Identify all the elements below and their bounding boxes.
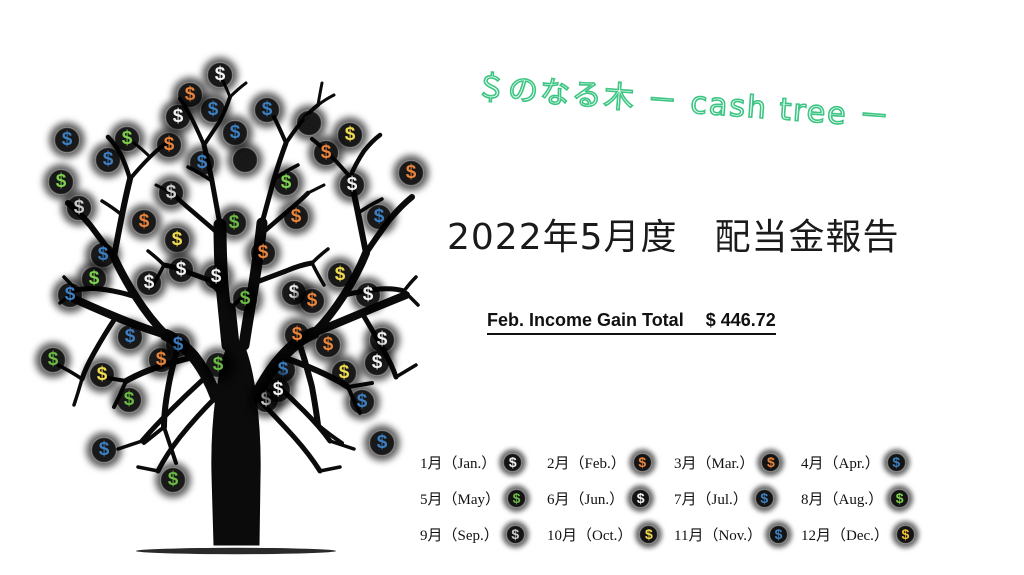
legend-row: 9月（Sep.）$10月（Oct.）$11月（Nov.）$12月（Dec.）$ bbox=[420, 516, 930, 552]
tree-coin: $ bbox=[366, 204, 392, 230]
tree-coin: $ bbox=[355, 282, 381, 308]
legend-row: 1月（Jan.）$2月（Feb.）$3月（Mar.）$4月（Apr.）$ bbox=[420, 444, 930, 480]
legend-month-label: 8月（Aug.） bbox=[801, 488, 883, 509]
tree-coin: $ bbox=[265, 377, 291, 403]
tree-coin: $ bbox=[369, 430, 395, 456]
slide-canvas: $$$$$$$$$$$$$$$$$$$$$$$$$$$$$$$$$$$$$$$$… bbox=[0, 0, 1024, 575]
tree-coin: $ bbox=[327, 262, 353, 288]
legend-row: 5月（May）$6月（Jun.）$7月（Jul.）$8月（Aug.）$ bbox=[420, 480, 930, 516]
legend-coin-icon: $ bbox=[631, 489, 650, 508]
tree-coin: $ bbox=[117, 324, 143, 350]
legend-coin-icon: $ bbox=[503, 453, 522, 472]
tree-coin: $ bbox=[89, 362, 115, 388]
page-title: ＄のなる木 － cash tree － bbox=[475, 62, 893, 136]
tree-coin: $ bbox=[164, 227, 190, 253]
legend-month-label: 10月（Oct.） bbox=[547, 524, 632, 545]
tree-coin: $ bbox=[250, 240, 276, 266]
tree-coin: $ bbox=[156, 132, 182, 158]
legend-month-item: 11月（Nov.）$ bbox=[674, 524, 801, 545]
legend-month-item: 8月（Aug.）$ bbox=[801, 488, 928, 509]
tree-coin: $ bbox=[283, 204, 309, 230]
tree-coin: $ bbox=[148, 347, 174, 373]
legend-month-item: 12月（Dec.）$ bbox=[801, 524, 928, 545]
tree-coin: $ bbox=[136, 270, 162, 296]
legend-month-label: 7月（Jul.） bbox=[674, 488, 748, 509]
legend-month-label: 2月（Feb.） bbox=[547, 452, 626, 473]
tree-coin: $ bbox=[116, 387, 142, 413]
tree-coin: $ bbox=[369, 327, 395, 353]
legend-coin-icon: $ bbox=[769, 525, 788, 544]
tree-coin: $ bbox=[337, 122, 363, 148]
tree-coin: $ bbox=[299, 288, 325, 314]
tree-coin: $ bbox=[349, 389, 375, 415]
legend-month-label: 6月（Jun.） bbox=[547, 488, 624, 509]
tree-coin: $ bbox=[205, 352, 231, 378]
legend-coin-icon: $ bbox=[639, 525, 658, 544]
cash-tree-illustration: $$$$$$$$$$$$$$$$$$$$$$$$$$$$$$$$$$$$$$$$… bbox=[30, 45, 440, 565]
tree-coin: $ bbox=[158, 180, 184, 206]
tree-coin: $ bbox=[221, 210, 247, 236]
legend-month-item: 9月（Sep.）$ bbox=[420, 524, 547, 545]
tree-coin: $ bbox=[315, 332, 341, 358]
month-legend: 1月（Jan.）$2月（Feb.）$3月（Mar.）$4月（Apr.）$5月（M… bbox=[420, 444, 930, 552]
tree-coin: $ bbox=[203, 264, 229, 290]
tree-coin: $ bbox=[114, 126, 140, 152]
legend-coin-icon: $ bbox=[896, 525, 915, 544]
report-heading: 2022年5月度 配当金報告 bbox=[447, 208, 900, 260]
tree-coin-layer: $$$$$$$$$$$$$$$$$$$$$$$$$$$$$$$$$$$$$$$$… bbox=[30, 45, 440, 565]
tree-coin: $ bbox=[95, 147, 121, 173]
tree-coin: $ bbox=[207, 62, 233, 88]
tree-coin: $ bbox=[331, 360, 357, 386]
tree-coin: $ bbox=[54, 127, 80, 153]
legend-coin-icon: $ bbox=[755, 489, 774, 508]
legend-month-label: 5月（May） bbox=[420, 488, 500, 509]
legend-month-label: 3月（Mar.） bbox=[674, 452, 754, 473]
legend-month-item: 3月（Mar.）$ bbox=[674, 452, 801, 473]
tree-coin: $ bbox=[398, 160, 424, 186]
tree-coin: $ bbox=[131, 209, 157, 235]
tree-coin: $ bbox=[364, 350, 390, 376]
tree-coin: $ bbox=[160, 467, 186, 493]
tree-coin: $ bbox=[66, 195, 92, 221]
tree-coin: $ bbox=[232, 147, 258, 173]
tree-coin: $ bbox=[48, 169, 74, 195]
legend-month-label: 1月（Jan.） bbox=[420, 452, 496, 473]
tree-coin: $ bbox=[91, 437, 117, 463]
tree-coin: $ bbox=[168, 257, 194, 283]
tree-coin: $ bbox=[200, 97, 226, 123]
tree-coin: $ bbox=[232, 286, 258, 312]
legend-month-item: 5月（May）$ bbox=[420, 488, 547, 509]
tree-coin: $ bbox=[339, 172, 365, 198]
legend-month-item: 7月（Jul.）$ bbox=[674, 488, 801, 509]
legend-month-item: 2月（Feb.）$ bbox=[547, 452, 674, 473]
tree-coin: $ bbox=[296, 110, 322, 136]
legend-coin-icon: $ bbox=[761, 453, 780, 472]
tree-coin: $ bbox=[284, 322, 310, 348]
legend-month-item: 6月（Jun.）$ bbox=[547, 488, 674, 509]
legend-month-label: 12月（Dec.） bbox=[801, 524, 889, 545]
legend-month-label: 4月（Apr.） bbox=[801, 452, 880, 473]
tree-coin: $ bbox=[254, 97, 280, 123]
legend-coin-icon: $ bbox=[507, 489, 526, 508]
legend-coin-icon: $ bbox=[890, 489, 909, 508]
income-total-label: Feb. Income Gain Total bbox=[487, 310, 684, 330]
legend-month-item: 10月（Oct.）$ bbox=[547, 524, 674, 545]
legend-month-label: 9月（Sep.） bbox=[420, 524, 499, 545]
tree-coin: $ bbox=[57, 282, 83, 308]
tree-coin: $ bbox=[273, 170, 299, 196]
legend-month-item: 4月（Apr.）$ bbox=[801, 452, 928, 473]
tree-coin: $ bbox=[90, 242, 116, 268]
legend-month-item: 1月（Jan.）$ bbox=[420, 452, 547, 473]
income-total-amount: $ 446.72 bbox=[706, 310, 776, 330]
tree-coin: $ bbox=[222, 120, 248, 146]
tree-coin: $ bbox=[313, 140, 339, 166]
tree-coin: $ bbox=[40, 347, 66, 373]
tree-coin: $ bbox=[165, 104, 191, 130]
tree-coin: $ bbox=[189, 150, 215, 176]
legend-coin-icon: $ bbox=[506, 525, 525, 544]
tree-coin: $ bbox=[81, 266, 107, 292]
legend-coin-icon: $ bbox=[633, 453, 652, 472]
legend-coin-icon: $ bbox=[887, 453, 906, 472]
legend-month-label: 11月（Nov.） bbox=[674, 524, 762, 545]
income-total-line: Feb. Income Gain Total$ 446.72 bbox=[487, 310, 776, 335]
